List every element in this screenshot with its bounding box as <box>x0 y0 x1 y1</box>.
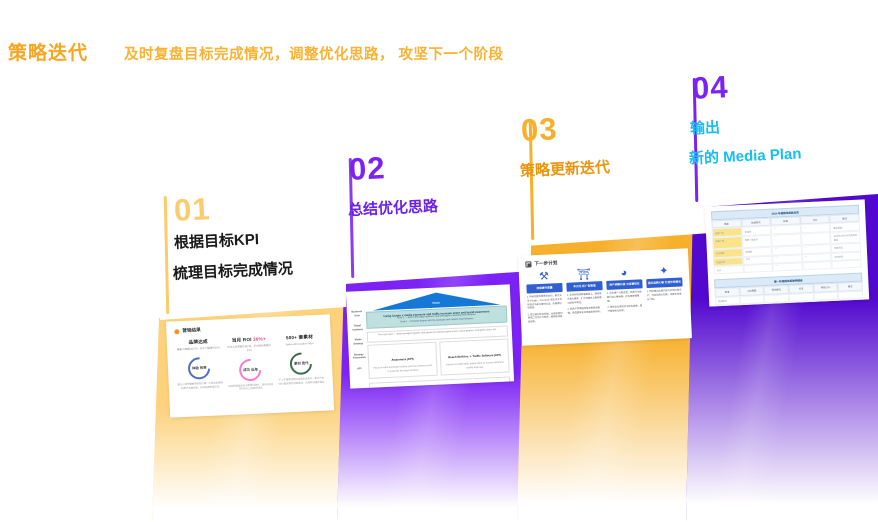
slide3-col-3-text: 1. 深化用户分层运营，结合行为数据沉淀人群画像，优化再营销策略。 2. 持续优… <box>607 291 644 314</box>
slide1-col-1-subtitle: 覆盖人数超过1700，对于门槛提升19% <box>175 346 222 352</box>
card-04-number: 04 <box>691 71 729 104</box>
flower-icon <box>174 329 179 334</box>
page-subtitle: 及时复盘目标完成情况，调整优化思路， 攻坚下一个阶段 <box>124 43 504 64</box>
slide1-col-2-footnote: 结合精准投放与创意素材迭代，单月ROI实现30%以上的稳步增长 <box>227 382 274 392</box>
slide-thumb-marketing-results[interactable]: 营销结果 品牌达成 覆盖人数超过1700，对于门槛提升19% 体验 效率 通过三… <box>166 314 334 417</box>
slide1-col-1-ring: 体验 效率 <box>184 353 215 384</box>
slide2-side-labels: Business Goal Target Audience Media Stra… <box>350 296 366 383</box>
slide3-heading: 下一步计划 <box>534 260 557 267</box>
slide1-col-2-ring: 成功 出海 <box>235 354 266 385</box>
header: 策略迭代 及时复盘目标完成情况，调整优化思路， 攻坚下一个阶段 <box>8 38 504 65</box>
slide3-col-1: ⚒ 持续提升质量 1. 持续挖掘优质素材方向，重点关注 Google、Faceb… <box>526 270 565 328</box>
page-title: 策略迭代 <box>8 38 88 65</box>
slide1-col-3-subtitle: Native AD Creative Video <box>276 342 323 348</box>
card-02-number: 02 <box>348 152 386 185</box>
slide1-col-3-footnote: 千人千面素材矩阵持续测试迭代，累计产出500+套定制化创意素材，快速验证最优组合 <box>278 376 325 386</box>
slide4-table-1: 2024 年度媒体投放总览 渠道投放形式 预算占比 备注 品牌广告信息流 —— … <box>711 205 862 275</box>
card-01-title-line-1: 根据目标KPI <box>174 229 260 255</box>
slide2-two-up: Awareness (KPI) Focus on traffic and bra… <box>367 338 509 378</box>
clipboard-icon <box>525 261 531 267</box>
slide-canvas: 策略迭代 及时复盘目标完成情况，调整优化思路， 攻坚下一个阶段 01 根据目标K… <box>0 0 878 522</box>
slide2-two-up-1-title: Awareness (KPI) <box>391 357 413 362</box>
slide3-col-1-text: 1. 持续挖掘优质素材方向，重点关注 Google、Facebook 等主流平台… <box>527 295 564 326</box>
slide1-col-1-footnote: 通过三波传播触点组合打爆，打造出全链路的用户沟通场景，形成品牌声量沉淀 <box>177 381 224 391</box>
slide1-heading: 营销结果 <box>182 327 201 334</box>
slide1-heading-row: 营销结果 <box>174 322 322 335</box>
slide1-col-2-title: 当月 ROI 30%+ <box>225 336 272 344</box>
slide2-two-up-1: Awareness (KPI) Focus on traffic and bra… <box>367 342 437 379</box>
slide-thumb-media-plan-table[interactable]: 2024 年度媒体投放总览 渠道投放形式 预算占比 备注 品牌广告信息流 —— … <box>705 199 869 306</box>
card-03-title-line-1: 策略更新迭代 <box>520 157 611 183</box>
slide2-main: Vision Using Crypto x media exposure and… <box>365 290 510 383</box>
card-03-number: 03 <box>520 113 558 146</box>
slide2-side-label-1: Business Goal <box>351 310 363 318</box>
card-02-title-line-1: 总结优化思路 <box>348 196 439 222</box>
slide1-col-1: 品牌达成 覆盖人数超过1700，对于门槛提升19% 体验 效率 通过三波传播触点… <box>175 338 224 394</box>
slide3-col-3: ◕ 用户洞察升级 与运营优化 1. 深化用户分层运营，结合行为数据沉淀人群画像，… <box>606 266 645 324</box>
card-01-number: 01 <box>173 193 211 226</box>
slide3-col-4-bar: 强化品牌心智 打造长效增长 <box>646 277 682 288</box>
slide1-col-2-subtitle: 平均点击率提升近2倍，平均转化率提升30% <box>226 344 273 354</box>
slide2-apex-label: Vision <box>428 301 444 305</box>
slide2-side-label-5: KPI <box>353 367 365 371</box>
slide2-two-up-2-text: Improve re-install depth, attend share o… <box>444 362 505 372</box>
slide3-col-4-text: 1. 持续输出品牌内容与长线口碑资产，沉淀品牌认知度，构建长效增长飞轮。 <box>647 290 683 303</box>
slide3-col-1-bar: 持续提升质量 <box>526 283 562 294</box>
slide2-side-label-2: Target Audience <box>351 324 363 332</box>
slide2-side-label-3: Media Strategy <box>352 338 364 346</box>
slide2-two-up-2-title: Reach Shift Inc. + Traffic Software (KPI… <box>448 353 501 359</box>
slide3-col-2-bar: 多元化 拓广告渠道 <box>566 281 602 292</box>
slide-thumb-strategy-pyramid[interactable]: Business Goal Target Audience Media Stra… <box>346 284 514 388</box>
slide1-col-1-title: 品牌达成 <box>175 338 222 346</box>
slide1-col-3-title: 500+ 套素材 <box>276 334 323 342</box>
slide1-col-3-ring: 素材 迭代 <box>285 348 316 379</box>
slide2-two-up-2: Reach Shift Inc. + Traffic Software (KPI… <box>439 338 509 375</box>
slide3-col-2: ⛩ 多元化 拓广告渠道 1. 在现有投放渠道基础上，探索更多潜力媒体，扩大可触达… <box>566 268 605 326</box>
slide3-col-4: ✦ 强化品牌心智 打造长效增长 1. 持续输出品牌内容与长线口碑资产，沉淀品牌认… <box>646 264 685 322</box>
slide3-col-3-bar: 用户洞察升级 与运营优化 <box>606 279 642 290</box>
slide1-columns: 品牌达成 覆盖人数超过1700，对于门槛提升19% 体验 效率 通过三波传播触点… <box>175 334 325 395</box>
slide3-columns: ⚒ 持续提升质量 1. 持续挖掘优质素材方向，重点关注 Google、Faceb… <box>526 264 684 328</box>
slide1-col-3: 500+ 套素材 Native AD Creative Video 素材 迭代 … <box>276 334 325 390</box>
slide1-col-2: 当月 ROI 30%+ 平均点击率提升近2倍，平均转化率提升30% 成功 出海 … <box>225 336 274 392</box>
card-04-title-line-1: 输出 <box>690 117 721 140</box>
slide3-col-2-text: 1. 在现有投放渠道基础上，探索更多潜力媒体，扩大可触达人群规模与结构多样性。 … <box>567 293 604 316</box>
slide2-side-label-4: Strategy Framework <box>353 353 365 361</box>
slide2-two-up-1-text: Focus on traffic and brand building, gro… <box>372 365 433 375</box>
slide-thumb-next-step-plan[interactable]: 下一步计划 ⚒ 持续提升质量 1. 持续挖掘优质素材方向，重点关注 Google… <box>518 248 692 346</box>
